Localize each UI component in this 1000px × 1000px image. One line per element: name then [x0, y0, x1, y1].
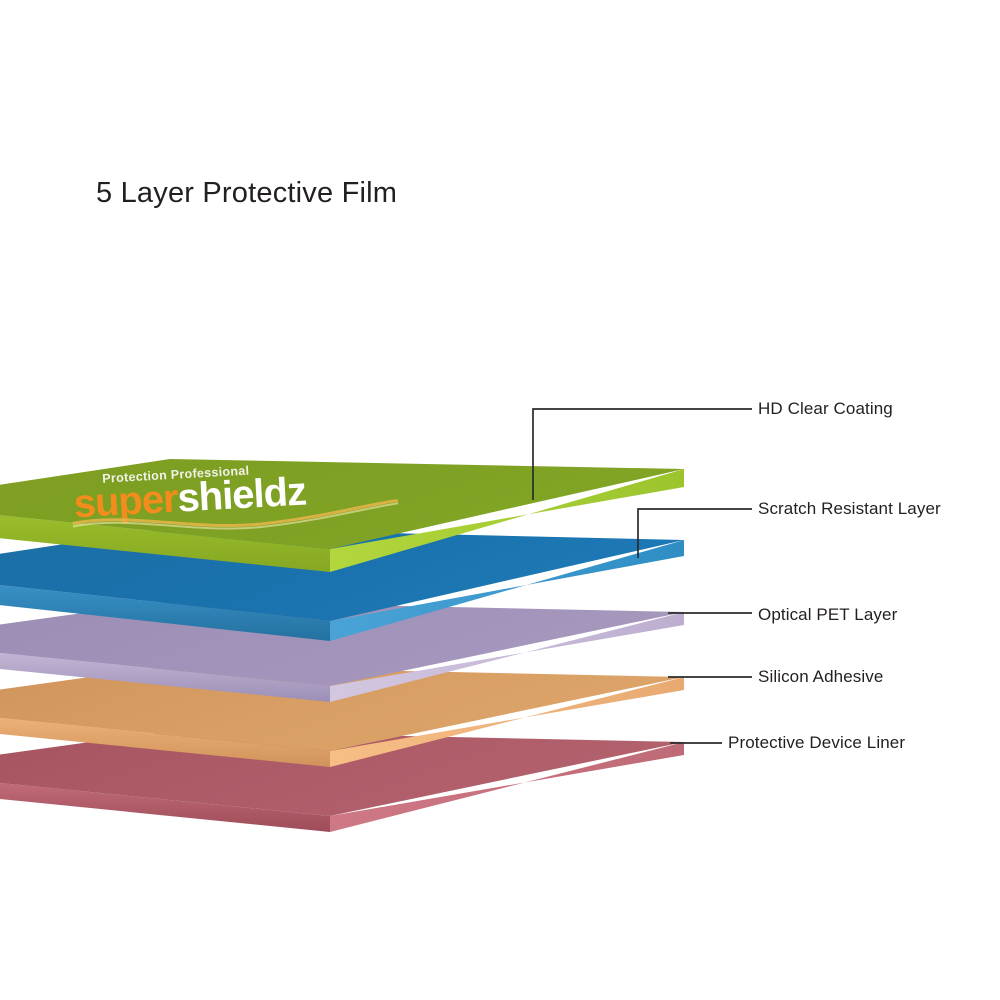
callout-label-hd-clear-coating: HD Clear Coating [758, 399, 893, 419]
callout-label-protective-device-liner: Protective Device Liner [728, 733, 905, 753]
callout-label-optical-pet-layer: Optical PET Layer [758, 605, 897, 625]
diagram-canvas: 5 Layer Protective Film [0, 0, 1000, 1000]
callout-label-scratch-resistant-layer: Scratch Resistant Layer [758, 499, 941, 519]
callout-label-silicon-adhesive: Silicon Adhesive [758, 667, 883, 687]
